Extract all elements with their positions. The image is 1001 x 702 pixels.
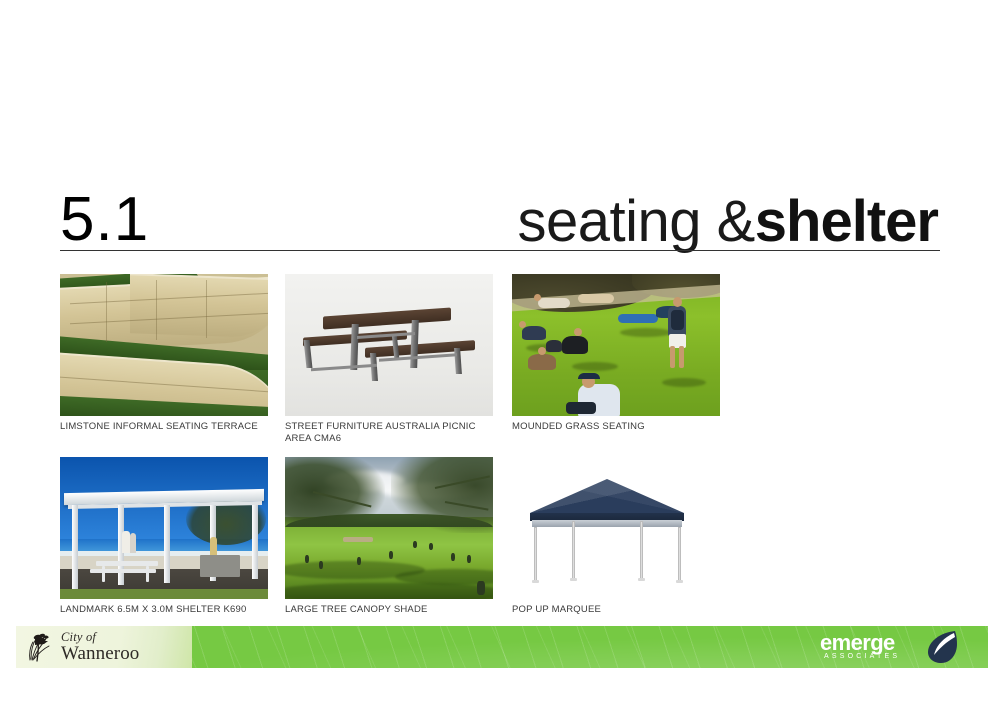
gallery-item[interactable]: LANDMARK 6.5M X 3.0M SHELTER K690 [60, 457, 268, 616]
block-seam [156, 280, 157, 340]
figure-foreground [564, 372, 634, 416]
person [357, 557, 361, 565]
person [130, 533, 136, 553]
limestone-terrace-photo[interactable] [60, 274, 268, 416]
page-title-bold: shelter [755, 189, 938, 254]
emerge-tagline: ASSOCIATES [824, 653, 900, 660]
figure [518, 320, 548, 342]
logo-line-1: City of [61, 631, 139, 644]
gallery-item[interactable]: LARGE TREE CANOPY SHADE [285, 457, 493, 616]
figure-leg [670, 346, 675, 368]
frame-rail [311, 364, 377, 372]
gallery-row: LIMSTONE INFORMAL SEATING TERRACE [60, 274, 940, 455]
marquee-leg [640, 521, 643, 579]
shelter-post [72, 505, 78, 589]
marquee-scene [512, 457, 702, 599]
figure [534, 292, 572, 310]
picnic-table-scene [285, 274, 493, 416]
picnic-table-product-photo[interactable] [285, 274, 493, 416]
gallery-item[interactable]: LIMSTONE INFORMAL SEATING TERRACE [60, 274, 268, 433]
image-caption: POP UP MARQUEE [512, 604, 718, 616]
header-divider [60, 250, 940, 251]
figure [576, 290, 618, 306]
logo-line-2: Wanneroo [61, 644, 139, 663]
person [389, 551, 393, 559]
page-title: seating &shelter [517, 193, 940, 251]
person [451, 553, 455, 561]
figure-head [538, 347, 546, 355]
marquee-foot [638, 578, 645, 581]
figure-head [673, 297, 682, 307]
gallery-row: LANDMARK 6.5M X 3.0M SHELTER K690 [60, 457, 940, 638]
figure [546, 336, 564, 354]
figure-standing [660, 296, 694, 378]
person [319, 561, 323, 569]
foreground-shadow [285, 583, 493, 599]
figure-leg [679, 346, 684, 368]
grass-tree-emblem-icon [24, 630, 58, 664]
page-header: 5.1 seating &shelter [60, 185, 940, 255]
gallery-item[interactable]: POP UP MARQUEE [512, 457, 720, 616]
block-seam [106, 282, 107, 342]
bbq-unit [200, 555, 240, 577]
mounded-grass-seating-photo[interactable] [512, 274, 720, 416]
image-caption: MOUNDED GRASS SEATING [512, 421, 718, 433]
person [305, 555, 309, 563]
bench-leg [454, 348, 462, 374]
marquee-foot [532, 580, 539, 583]
tree-canopy [391, 457, 493, 533]
image-caption: LIMSTONE INFORMAL SEATING TERRACE [60, 421, 266, 433]
tree-canopy [285, 457, 385, 527]
table-top [323, 308, 451, 330]
figure-body [538, 298, 570, 308]
block-seam [206, 280, 207, 338]
figure-bag [546, 340, 562, 352]
marquee-leg [678, 527, 681, 581]
figure-shadow [662, 378, 706, 387]
tree-canopy-shade-photo[interactable] [285, 457, 493, 599]
image-gallery: LIMSTONE INFORMAL SEATING TERRACE [60, 274, 940, 638]
image-caption: LANDMARK 6.5M X 3.0M SHELTER K690 [60, 604, 266, 616]
person [429, 543, 433, 550]
figure-head [534, 294, 541, 301]
emerge-associates-logo[interactable]: emerge ASSOCIATES [812, 630, 980, 664]
figure-shadow [572, 362, 618, 371]
emerge-wordmark: emerge [820, 632, 895, 654]
marquee-leg [572, 521, 575, 579]
section-number: 5.1 [60, 189, 149, 251]
figure-legs [566, 402, 596, 414]
slide-page: 5.1 seating &shelter [0, 0, 1001, 702]
table-leg [102, 566, 105, 582]
image-caption: LARGE TREE CANOPY SHADE [285, 604, 491, 616]
person [413, 541, 417, 548]
goal-post [343, 537, 373, 542]
figure-body [578, 294, 614, 303]
city-of-wanneroo-logo[interactable]: City of Wanneroo [16, 626, 192, 668]
figure-body [522, 326, 546, 340]
figure-body [562, 336, 588, 354]
shelter-scene [60, 457, 268, 599]
gallery-item[interactable]: STREET FURNITURE AUSTRALIA PICNIC AREA C… [285, 274, 493, 444]
image-caption: STREET FURNITURE AUSTRALIA PICNIC AREA C… [285, 421, 491, 444]
table-leg [410, 320, 419, 368]
grass-seating-scene [512, 274, 720, 416]
pop-up-marquee-photo[interactable] [512, 457, 702, 599]
figure-body [528, 354, 556, 370]
picnic-table [96, 561, 158, 566]
person [477, 581, 485, 595]
table-leg [146, 566, 149, 582]
page-title-light: seating & [517, 189, 754, 254]
limestone-wall [130, 274, 268, 339]
table-leg [350, 324, 359, 370]
limestone-scene [60, 274, 268, 416]
figure-head [519, 321, 526, 328]
gallery-item[interactable]: MOUNDED GRASS SEATING [512, 274, 720, 433]
leaf-swoosh-icon [924, 629, 960, 665]
marquee-leg [534, 527, 537, 581]
person [210, 537, 217, 555]
shelter-post [164, 505, 170, 583]
marquee-foot [570, 578, 577, 581]
header-row: 5.1 seating &shelter [60, 185, 940, 251]
backpack [671, 310, 684, 330]
hat [578, 373, 600, 379]
marquee-valance [532, 520, 682, 527]
parkland-scene [285, 457, 493, 599]
marquee-foot [676, 580, 683, 583]
landmark-shelter-photo[interactable] [60, 457, 268, 599]
person [467, 555, 471, 563]
lawn-strip [60, 589, 268, 599]
page-footer: City of Wanneroo emerge ASSOCIATES [16, 626, 988, 668]
person [122, 531, 130, 553]
city-of-wanneroo-wordmark: City of Wanneroo [61, 631, 139, 664]
figure-head [574, 328, 582, 336]
shelter-post [252, 505, 258, 579]
